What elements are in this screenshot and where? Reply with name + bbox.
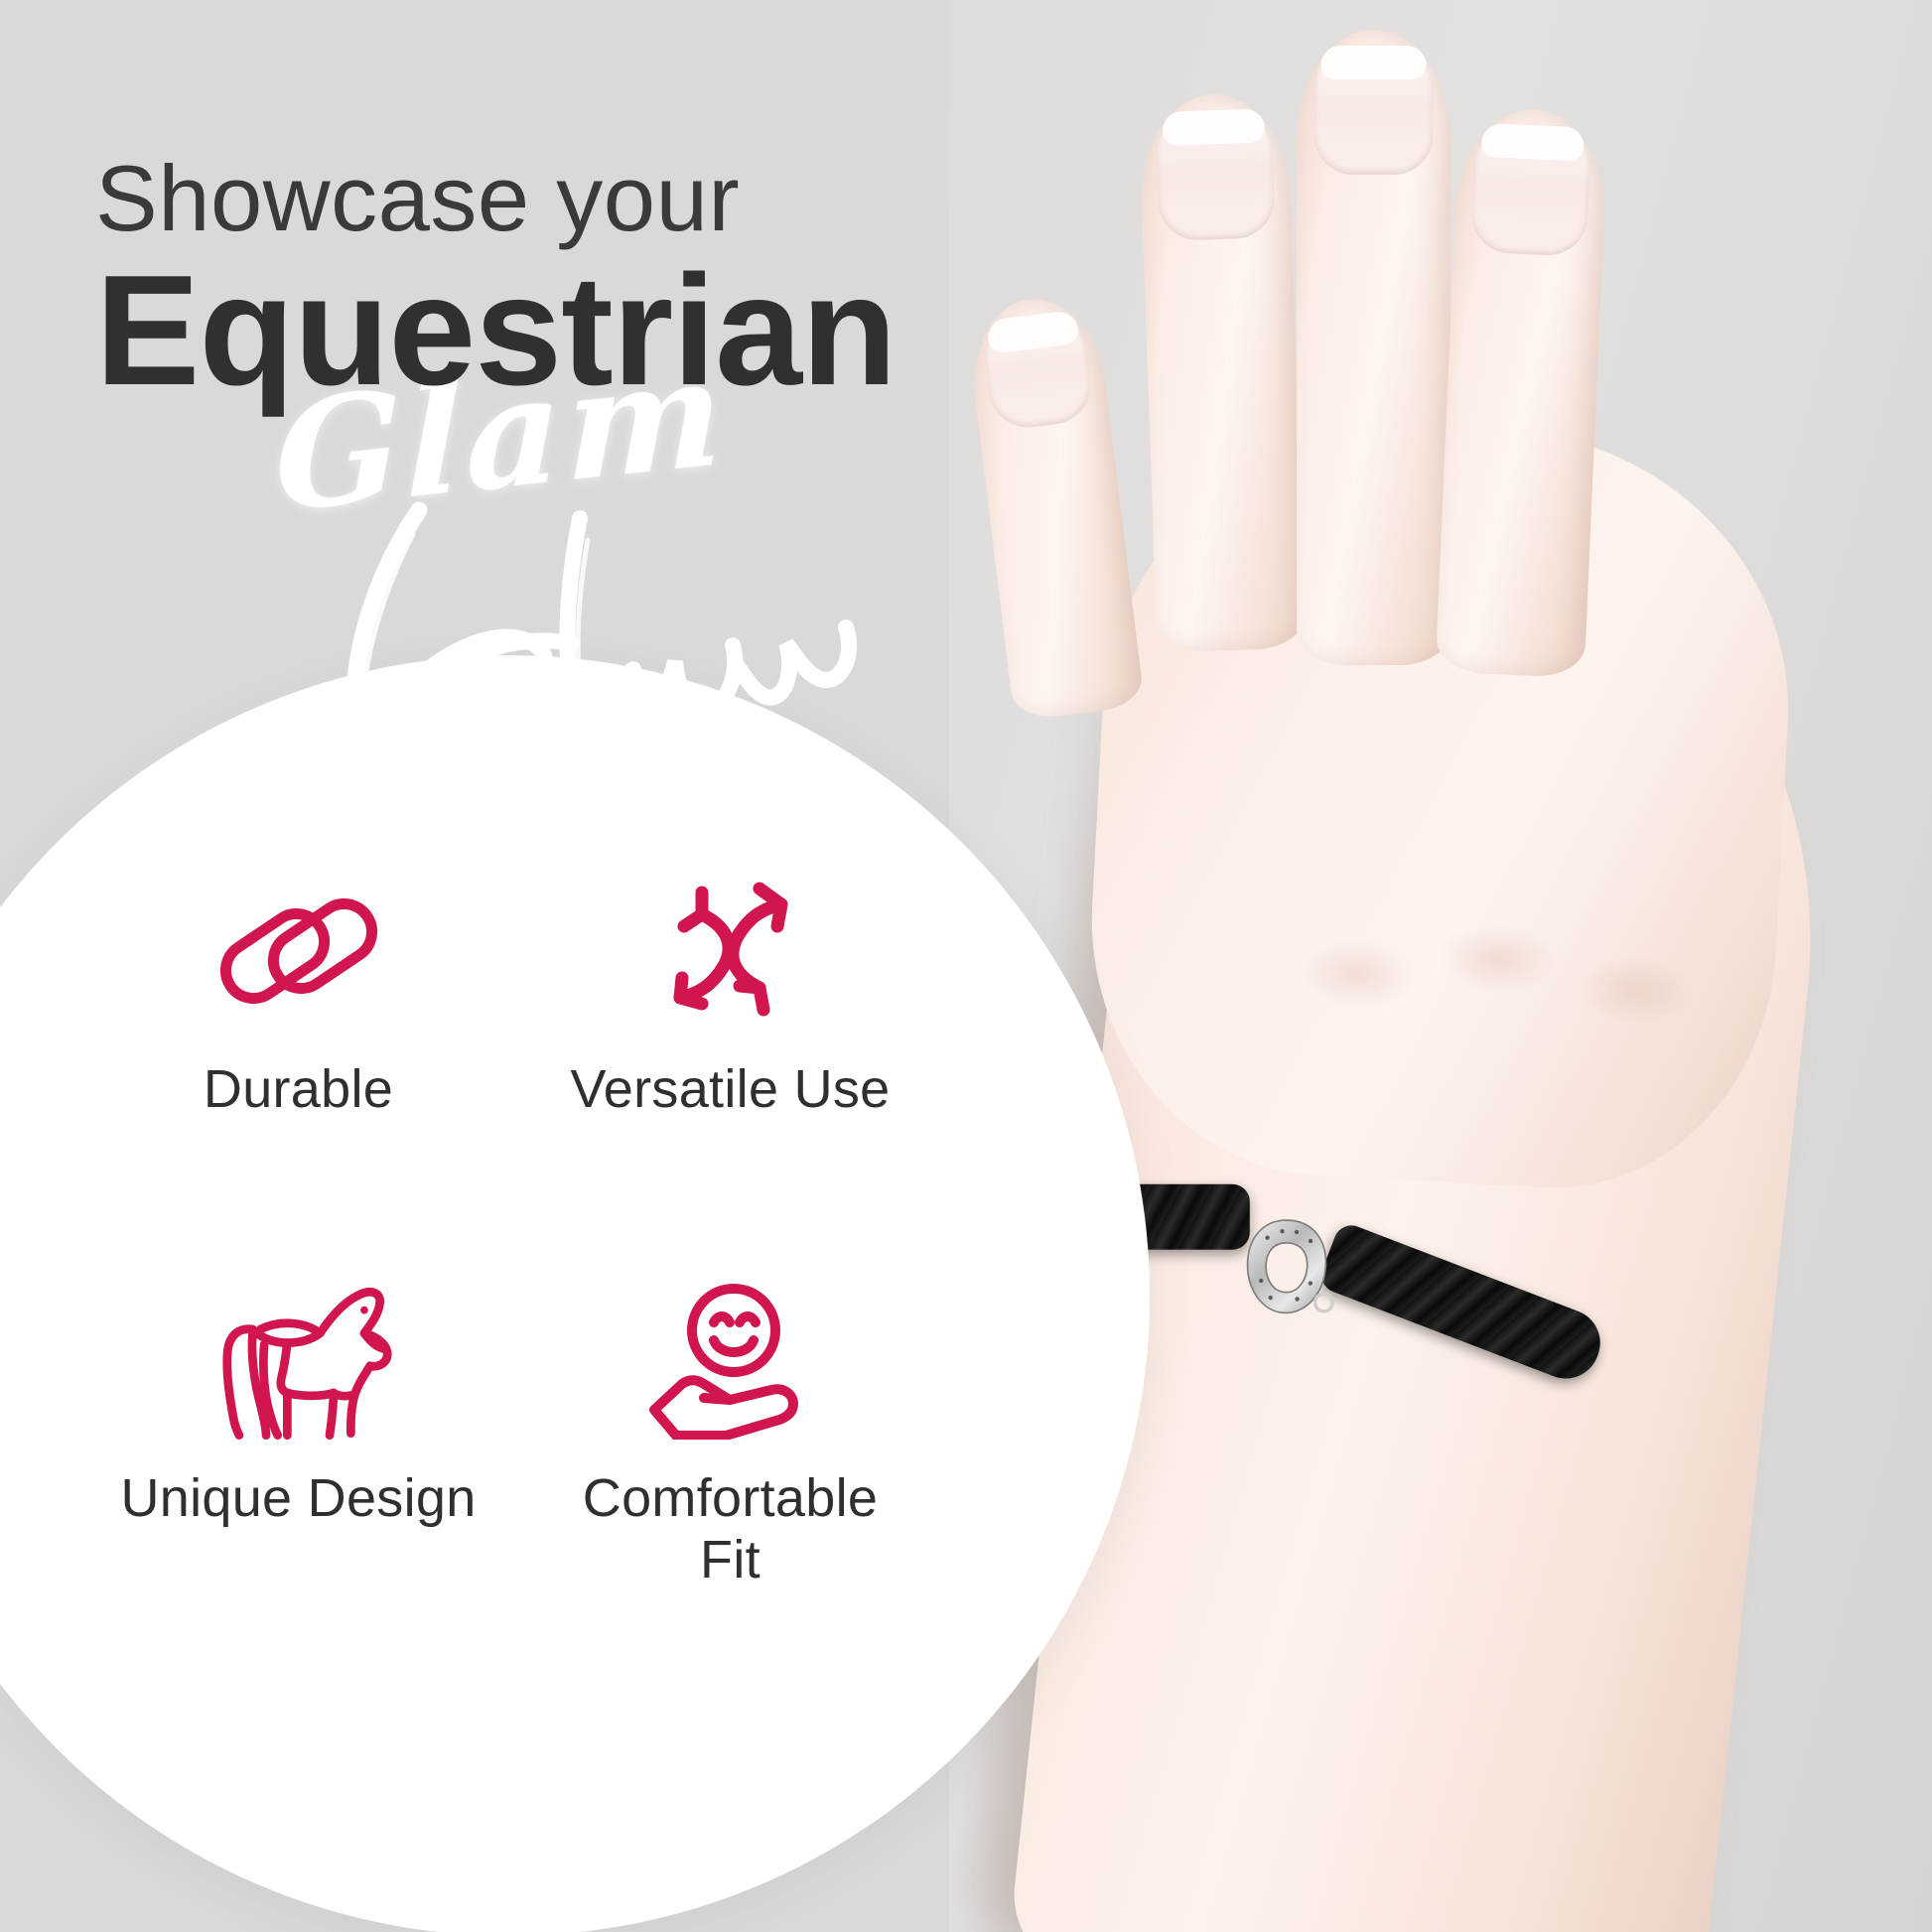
finger-index [1138,92,1306,653]
fingernail [1155,108,1275,241]
fingernail [1470,123,1592,257]
headline-line-1: Showcase your [95,151,1148,246]
feature-label: Versatile Use [570,1059,890,1121]
feature-versatile-use[interactable]: Versatile Use [549,864,911,1181]
horse-icon [205,1273,393,1447]
four-way-arrows-icon [636,864,825,1037]
finger-middle [1297,30,1450,665]
smiley-in-hand-icon [636,1273,825,1447]
horseshoe-charm-icon [1232,1211,1341,1327]
chain-link-icon [205,864,393,1037]
bracelet-cord-right [1316,1220,1610,1388]
feature-label: Unique Design [120,1468,476,1530]
finger-ring [1436,106,1609,678]
feature-label: Comfortable Fit [549,1468,911,1590]
headline-line-2: Equestrian [95,252,1148,409]
feature-comfortable-fit[interactable]: Comfortable Fit [549,1273,911,1590]
feature-durable[interactable]: Durable [117,864,480,1181]
feature-grid: Durable [117,864,911,1590]
feature-unique-design[interactable]: Unique Design [117,1273,480,1590]
feature-label: Durable [204,1059,393,1121]
fingernail [1313,46,1434,175]
headline-block: Showcase your Equestrian Glam [95,151,1148,409]
product-marketing-banner: Showcase your Equestrian Glam [0,0,1932,1932]
